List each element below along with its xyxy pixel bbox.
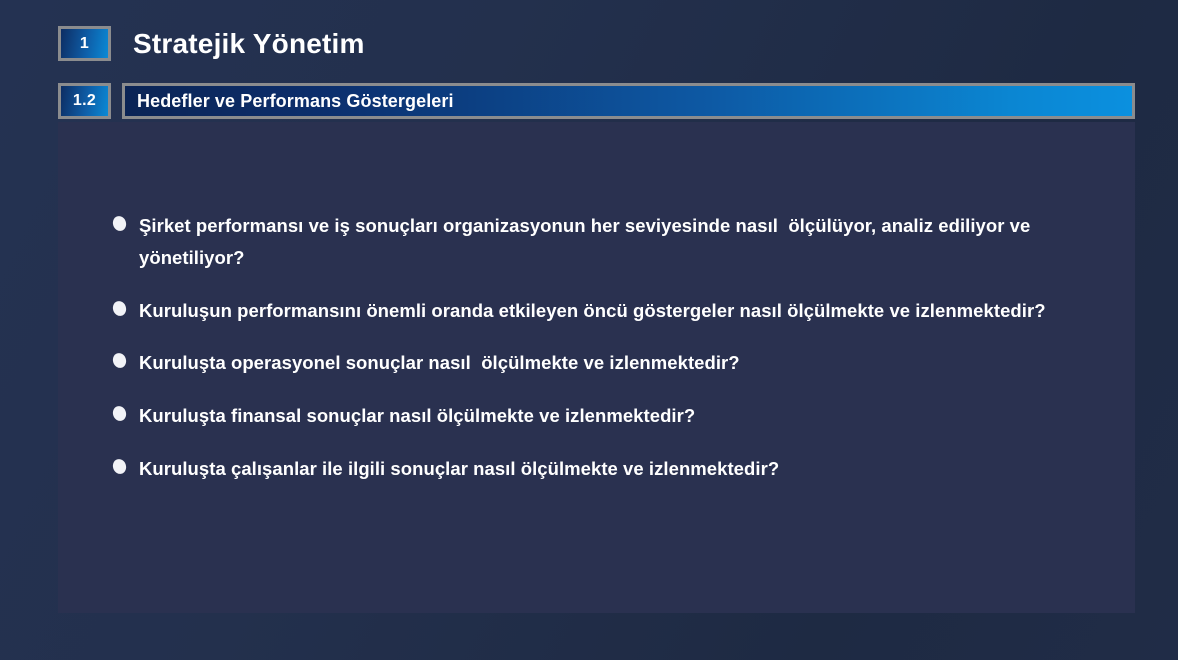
slide-header: 1 Stratejik Yönetim (58, 26, 365, 61)
list-item-text: Şirket performansı ve iş sonuçları organ… (139, 210, 1104, 274)
bullet-dot-icon (111, 352, 128, 370)
list-item-text: Kuruluşun performansını önemli oranda et… (139, 295, 1046, 327)
list-item: Kuruluşta finansal sonuçlar nasıl ölçülm… (113, 400, 1107, 432)
slide-root: 1 Stratejik Yönetim 1.2 Hedefler ve Perf… (0, 0, 1178, 660)
section-title-label: Hedefler ve Performans Göstergeleri (137, 91, 454, 112)
bullet-dot-icon (111, 299, 128, 317)
list-item: Kuruluşta çalışanlar ile ilgili sonuçlar… (113, 453, 1107, 485)
list-item-text: Kuruluşta finansal sonuçlar nasıl ölçülm… (139, 400, 695, 432)
section-number-badge: 1.2 (58, 83, 111, 119)
bullet-dot-icon (111, 457, 128, 475)
bullet-dot-icon (111, 405, 128, 423)
list-item: Kuruluşun performansını önemli oranda et… (113, 295, 1107, 327)
chapter-number-badge: 1 (58, 26, 111, 61)
page-title: Stratejik Yönetim (133, 30, 365, 58)
list-item: Kuruluşta operasyonel sonuçlar nasıl ölç… (113, 347, 1107, 379)
bullet-dot-icon (111, 214, 128, 232)
section-header: 1.2 Hedefler ve Performans Göstergeleri (58, 83, 1135, 119)
section-title-bar: Hedefler ve Performans Göstergeleri (122, 83, 1135, 119)
list-item: Şirket performansı ve iş sonuçları organ… (113, 210, 1107, 274)
content-panel: Şirket performansı ve iş sonuçları organ… (58, 122, 1135, 613)
list-item-text: Kuruluşta operasyonel sonuçlar nasıl ölç… (139, 347, 740, 379)
question-list: Şirket performansı ve iş sonuçları organ… (113, 210, 1107, 485)
list-item-text: Kuruluşta çalışanlar ile ilgili sonuçlar… (139, 453, 779, 485)
